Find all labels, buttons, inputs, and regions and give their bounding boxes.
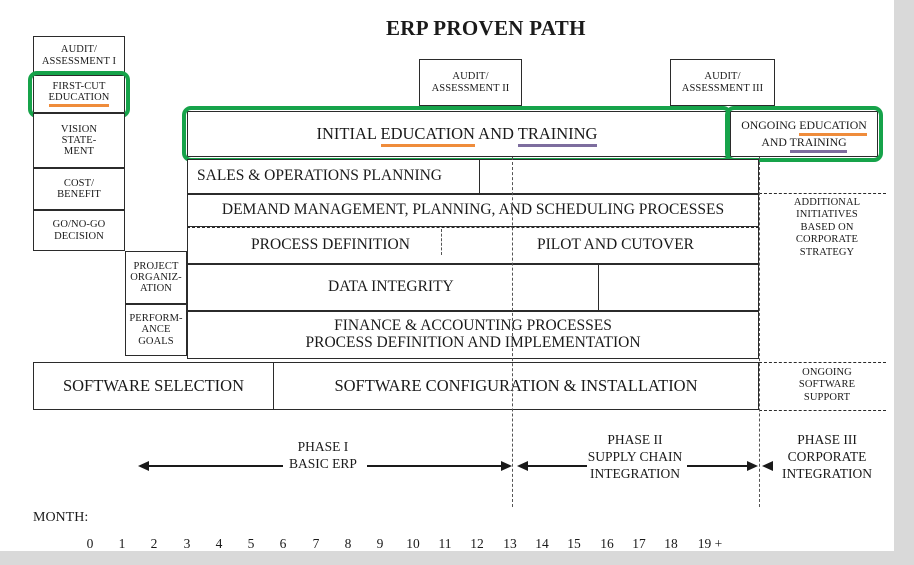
- right-block-line: ADDITIONAL: [768, 197, 886, 209]
- second-box-line: ATION: [130, 283, 182, 294]
- left-box-line: STATE-: [61, 135, 97, 146]
- divider-data-integrity: [598, 264, 599, 311]
- second-box-performance-goals[interactable]: PERFORM- ANCE GOALS: [125, 304, 187, 356]
- ongoing-seg-training: TRAINING: [790, 135, 847, 153]
- edu-seg-education: EDUCATION: [381, 124, 475, 147]
- right-block-line: INITIATIVES: [768, 209, 886, 221]
- month-tick: 4: [207, 536, 231, 551]
- second-box-project-organization[interactable]: PROJECT ORGANIZ- ATION: [125, 251, 187, 304]
- phase-2-line-left: [527, 465, 587, 467]
- right-block-line: SUPPORT: [768, 392, 886, 404]
- bar-label: SOFTWARE SELECTION: [63, 377, 244, 395]
- phase-2-line-right: [687, 465, 748, 467]
- bar-software-configuration[interactable]: SOFTWARE CONFIGURATION & INSTALLATION: [274, 362, 759, 410]
- audit-box-line: ASSESSMENT II: [432, 83, 510, 94]
- bar-label: DATA INTEGRITY: [328, 279, 454, 296]
- bar-label: DEMAND MANAGEMENT, PLANNING, AND SCHEDUL…: [222, 202, 724, 219]
- bar-process-definition[interactable]: PROCESS DEFINITION: [187, 228, 473, 264]
- month-tick: 19 +: [692, 536, 728, 551]
- erp-proven-path-diagram: ERP PROVEN PATH AUDIT/ ASSESSMENT I FIRS…: [20, 7, 880, 547]
- phase-3-label: PHASE III CORPORATE INTEGRATION: [772, 432, 882, 483]
- bar-software-selection[interactable]: SOFTWARE SELECTION: [33, 362, 274, 410]
- right-block-ongoing-software-support: ONGOING SOFTWARE SUPPORT: [768, 367, 886, 404]
- month-tick: 5: [239, 536, 263, 551]
- left-box-line: COST/: [57, 178, 101, 189]
- month-tick: 10: [401, 536, 425, 551]
- left-box-line: ASSESSMENT I: [42, 56, 116, 67]
- bar-data-integrity[interactable]: DATA INTEGRITY: [187, 264, 759, 311]
- month-tick: 13: [498, 536, 522, 551]
- bar-label-line1: FINANCE & ACCOUNTING PROCESSES: [305, 318, 640, 335]
- phase-2-label: PHASE II SUPPLY CHAIN INTEGRATION: [580, 432, 690, 483]
- second-box-line: GOALS: [129, 336, 182, 347]
- left-box-first-cut-education[interactable]: FIRST-CUT EDUCATION: [33, 75, 125, 113]
- edu-seg-initial: INITIAL: [317, 124, 381, 143]
- dashed-tick-process-definition: [441, 229, 442, 255]
- left-box-line: AUDIT/: [42, 44, 116, 55]
- phase-label-line: PHASE II: [580, 432, 690, 449]
- month-tick: 17: [627, 536, 651, 551]
- bar-label: PROCESS DEFINITION: [251, 237, 410, 254]
- phase-label-line: CORPORATE: [772, 449, 882, 466]
- month-tick: 9: [368, 536, 392, 551]
- left-box-go-no-go-decision[interactable]: GO/NO-GO DECISION: [33, 210, 125, 251]
- month-tick: 14: [530, 536, 554, 551]
- dashed-divider-right-software-bottom: [759, 410, 886, 411]
- edu-seg-training: TRAINING: [518, 124, 598, 147]
- right-block-line: SOFTWARE: [768, 379, 886, 391]
- left-box-audit-assessment-i[interactable]: AUDIT/ ASSESSMENT I: [33, 36, 125, 75]
- second-box-line: PROJECT: [130, 261, 182, 272]
- audit-box-line: AUDIT/: [682, 71, 763, 82]
- left-box-line: DECISION: [53, 231, 106, 242]
- phase-label-line: INTEGRATION: [580, 466, 690, 483]
- left-box-vision-statement[interactable]: VISION STATE- MENT: [33, 113, 125, 168]
- ongoing-seg-and: AND: [761, 135, 789, 149]
- audit-box-line: ASSESSMENT III: [682, 83, 763, 94]
- bar-label: PILOT AND CUTOVER: [537, 237, 694, 254]
- month-tick: 1: [110, 536, 134, 551]
- second-box-line: PERFORM-: [129, 313, 182, 324]
- ongoing-seg-ongoing: ONGOING: [741, 118, 799, 132]
- phase-2-arrow-right: [747, 461, 758, 471]
- left-box-line-underlined: EDUCATION: [49, 92, 110, 107]
- phase-1-line-right: [367, 465, 502, 467]
- second-box-line: ORGANIZ-: [130, 272, 182, 283]
- divider-sales-ops: [479, 159, 480, 194]
- phase-label-line: SUPPLY CHAIN: [580, 449, 690, 466]
- second-box-line: ANCE: [129, 324, 182, 335]
- month-tick: 15: [562, 536, 586, 551]
- phase-boundary-2: [759, 157, 760, 507]
- right-block-line: BASED ON: [768, 222, 886, 234]
- month-tick: 18: [659, 536, 683, 551]
- phase-label-line: PHASE III: [772, 432, 882, 449]
- month-tick: 8: [336, 536, 360, 551]
- phase-label-line: BASIC ERP: [278, 456, 368, 473]
- bar-label: SOFTWARE CONFIGURATION & INSTALLATION: [334, 377, 697, 395]
- month-tick: 0: [78, 536, 102, 551]
- bar-demand-management[interactable]: DEMAND MANAGEMENT, PLANNING, AND SCHEDUL…: [187, 194, 759, 227]
- diagram-page: ERP PROVEN PATH AUDIT/ ASSESSMENT I FIRS…: [0, 0, 894, 551]
- month-tick: 11: [433, 536, 457, 551]
- month-tick: 3: [175, 536, 199, 551]
- right-block-line: ONGOING: [768, 367, 886, 379]
- left-box-line: GO/NO-GO: [53, 219, 106, 230]
- audit-box-assessment-ii[interactable]: AUDIT/ ASSESSMENT II: [419, 59, 522, 106]
- left-box-line: VISION: [61, 124, 97, 135]
- phase-1-label: PHASE I BASIC ERP: [278, 439, 368, 473]
- phase-label-line: PHASE I: [278, 439, 368, 456]
- bar-label: SALES & OPERATIONS PLANNING: [197, 168, 442, 185]
- bar-label-line2: PROCESS DEFINITION AND IMPLEMENTATION: [305, 335, 640, 352]
- right-block-additional-initiatives: ADDITIONAL INITIATIVES BASED ON CORPORAT…: [768, 197, 886, 259]
- month-tick: 16: [595, 536, 619, 551]
- month-tick: 2: [142, 536, 166, 551]
- bar-ongoing-education-and-training[interactable]: ONGOING EDUCATION AND TRAINING: [730, 111, 878, 157]
- dashed-divider-right-software-top: [759, 362, 886, 363]
- audit-box-assessment-iii[interactable]: AUDIT/ ASSESSMENT III: [670, 59, 775, 106]
- left-box-line: MENT: [61, 146, 97, 157]
- page-title: ERP PROVEN PATH: [386, 16, 586, 41]
- dashed-divider-right-top: [759, 193, 886, 194]
- bar-pilot-and-cutover[interactable]: PILOT AND CUTOVER: [473, 228, 759, 264]
- phase-boundary-1: [512, 157, 513, 507]
- bar-initial-education-and-training[interactable]: INITIAL EDUCATION AND TRAINING: [187, 111, 727, 157]
- phase-1-arrow-right: [501, 461, 512, 471]
- left-box-line: FIRST-CUT: [49, 81, 110, 92]
- month-axis-label: MONTH:: [33, 510, 88, 526]
- phase-1-line-left: [148, 465, 283, 467]
- bar-sales-operations-planning[interactable]: SALES & OPERATIONS PLANNING: [187, 159, 759, 194]
- left-box-cost-benefit[interactable]: COST/ BENEFIT: [33, 168, 125, 210]
- left-box-line: BENEFIT: [57, 189, 101, 200]
- right-block-line: CORPORATE: [768, 234, 886, 246]
- month-tick: 7: [304, 536, 328, 551]
- month-tick: 6: [271, 536, 295, 551]
- phase-label-line: INTEGRATION: [772, 466, 882, 483]
- audit-box-line: AUDIT/: [432, 71, 510, 82]
- bar-finance-accounting[interactable]: FINANCE & ACCOUNTING PROCESSES PROCESS D…: [187, 311, 759, 359]
- right-block-line: STRATEGY: [768, 247, 886, 259]
- edu-seg-and: AND: [475, 124, 518, 143]
- month-tick: 12: [465, 536, 489, 551]
